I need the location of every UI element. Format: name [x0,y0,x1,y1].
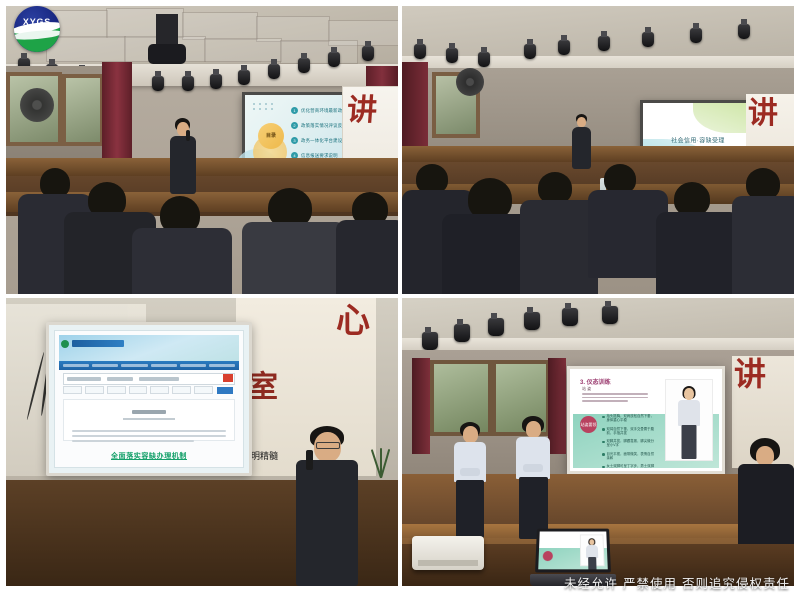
stage-light-icon [328,52,340,67]
website-submit-button[interactable] [217,387,233,394]
audience-body [732,196,794,294]
bullet-number: 1 [291,107,298,114]
bullet-dot-icon [602,466,605,469]
stage-light-icon [362,46,374,61]
eyeglasses-icon [316,442,340,449]
trainee-trousers [456,480,484,538]
projector [412,536,484,570]
presenter [166,118,200,198]
website-search-button[interactable] [223,374,233,382]
audience-head [674,182,710,216]
bullet-text: 政务一体化平台建设 [301,138,342,144]
bullet-dot-icon [602,441,605,444]
xygs-logo: XYGS [14,6,60,52]
stage-light-icon [562,308,578,326]
slide-dot-pattern [253,103,281,113]
bullet-text: 双臂自然下垂，双手交叠置于腹前，手指并拢 [607,427,658,436]
calligraphy-character: 讲 [748,100,778,127]
stage-light-icon [182,76,194,91]
figure-blouse [678,400,700,426]
presenter-suit [170,136,196,194]
audience-body [656,212,740,294]
ceiling-tile [280,40,358,64]
laptop-lid [535,529,611,573]
stage-light-icon [298,58,310,73]
audience-member [732,168,794,294]
photo-collage: 目录 1 优化营商环境最新政策方面 2 政策落实情况评议反馈意见 3 [0,0,800,600]
slide-figure-standing-posture [580,534,605,566]
audience-member [520,172,590,294]
slide-bullet: 抬头挺胸，双肩放松自然下垂，身体重心平稳 [602,414,657,423]
stage-light-icon [422,332,438,350]
panel-top-left: 目录 1 优化营商环境最新政策方面 2 政策落实情况评议反馈意见 3 [6,6,398,294]
panel-bottom-left: 心 室 文明精髓 [6,298,398,586]
stage-curtain [412,358,430,454]
bullet-number: 2 [291,122,298,129]
calligraphy-character: 心 [336,306,370,337]
slide-figure-standing-posture [665,379,713,461]
stage-light-icon [414,44,426,59]
slide-badge: 站姿要领 [580,416,597,433]
audience-body [132,228,232,294]
website-navbar [59,361,239,370]
slide-badge-label: 目录 [266,134,276,139]
website-title-bar [72,340,124,347]
audience-member [336,192,398,294]
stage-light-icon [210,74,222,89]
ceiling-tile [46,36,126,62]
trainee-hands [523,464,543,472]
document-text-line [72,430,226,432]
laptop-screen [538,532,608,570]
panel-top-right: 社会信用·容缺受理 讲 传承中华文明精 [402,6,794,294]
slide-subtitle-text: 站 姿 [582,386,591,392]
trainee-left [446,422,494,538]
projection-screen: 3. 仪态训练 站 姿 站姿要领 抬头挺胸，双肩放松自然下垂，身体重心平稳 双臂… [567,366,725,474]
stage-light-icon [524,312,540,330]
calligraphy-character: 讲 [346,97,378,124]
audience-member [242,188,338,294]
ceiling-fan-icon [456,68,484,96]
stage-light-icon [738,24,750,39]
stage-light-icon [488,318,504,336]
slide-website-screenshot: 全面落实容缺办理机制 [54,330,244,468]
projection-screen: 全面落实容缺办理机制 [46,322,252,476]
slide-bullet: 双脚并拢，脚跟靠紧，脚尖微分呈小V字 [602,439,657,448]
document-title-line [132,410,166,414]
slide-shape-green [693,103,754,133]
ceiling-fan-icon [20,88,54,122]
slide-bullet: 双臂自然下垂，双手交叠置于腹前，手指并拢 [602,427,657,436]
audience-member [588,164,660,276]
microphone-icon [186,130,190,141]
audience-member [132,196,226,294]
audience-body [242,222,346,294]
slide-badge-label: 站姿要领 [581,423,597,427]
figure-head [684,388,694,400]
presenter-head [577,117,586,127]
bullet-text: 目光平视，面带微笑，表情自然亲和 [607,452,658,461]
logo-text: XYGS [14,17,60,27]
slide-caption: 全面落实容缺办理机制 [55,451,243,461]
website-search-input[interactable] [63,373,235,385]
bullet-number: 3 [291,137,298,144]
collage-grid: 目录 1 优化营商环境最新政策方面 2 政策落实情况评议反馈意见 3 [6,6,794,594]
website-logo-icon [61,340,69,348]
slide-bullet: 女士双脚可呈丁字步，男士双脚可分开与肩同宽 [602,464,657,468]
audience-body [336,220,398,294]
figure-trousers [682,425,697,459]
slide-bullet-list: 抬头挺胸，双肩放松自然下垂，身体重心平稳 双臂自然下垂，双手交叠置于腹前，手指并… [602,414,657,468]
bullet-text: 女士双脚可呈丁字步，男士双脚可分开与肩同宽 [607,464,658,468]
trainee-head [526,421,541,438]
bullet-text: 双脚并拢，脚跟靠紧，脚尖微分呈小V字 [607,439,658,448]
slide-paragraph-block [582,393,648,406]
presenter-suit [572,127,591,169]
bullet-dot-icon [602,416,605,419]
stage-light-icon [268,64,280,79]
stage-light-icon [478,52,490,67]
window [62,74,104,146]
slide-contents: 目录 1 优化营商环境最新政策方面 2 政策落实情况评议反馈意见 3 [245,95,347,167]
trainee-head [463,426,478,443]
figure-trousers [588,557,596,569]
panel-bottom-right: 讲 3. 仪态训练 站 姿 站姿要领 抬头挺胸，双肩放松自然下垂，身体重心平稳 … [402,298,794,586]
slide-etiquette-training: 3. 仪态训练 站 姿 站姿要领 抬头挺胸，双肩放松自然下垂，身体重心平稳 双臂… [573,372,719,468]
audience-body [520,200,598,294]
bullet-text: 抬头挺胸，双肩放松自然下垂，身体重心平稳 [607,414,658,423]
audience-member [656,182,732,294]
stage-light-icon [524,44,536,59]
stage-light-icon [598,36,610,51]
website-document-body [63,399,235,441]
calligraphy-character: 讲 [734,360,766,389]
potted-plant [366,442,396,478]
slide-title-text: 3. 仪态训练 [580,377,611,386]
presenter-suit [296,460,358,586]
stage-light-icon [690,28,702,43]
presenter [290,426,366,586]
document-text-line [72,435,226,437]
stage-light-icon [558,40,570,55]
ceiling-projector-mount [156,14,178,48]
calligraphy-character: 室 [248,362,278,406]
document-text-line [72,440,194,442]
trainee-right [508,416,558,542]
document-meta-line [123,418,175,420]
bullet-dot-icon [602,453,605,456]
trainee-shirt [454,442,486,482]
stage-light-icon [238,70,250,85]
stage-light-icon [602,306,618,324]
slide-bullet: 目光平视，面带微笑，表情自然亲和 [602,452,657,461]
desk-row [402,146,794,162]
trainee-hands [460,468,480,476]
website-header-banner [59,335,239,361]
slide-title-text: 社会信用·容缺受理 [671,136,725,145]
bullet-dot-icon [602,428,605,431]
laptop-mirrored-slide [538,532,608,570]
stage-light-icon [446,48,458,63]
copyright-watermark: 未经允许 严禁使用 否则追究侵权责任 [564,573,790,592]
stage-light-icon [642,32,654,47]
microphone-icon [306,450,313,470]
stage-light-icon [152,76,164,91]
website-filter-tags[interactable] [63,386,213,395]
stage-light-icon [454,324,470,342]
slide-badge: 目录 [258,123,284,149]
trainee-shirt [516,437,550,479]
observer-head [756,446,774,466]
